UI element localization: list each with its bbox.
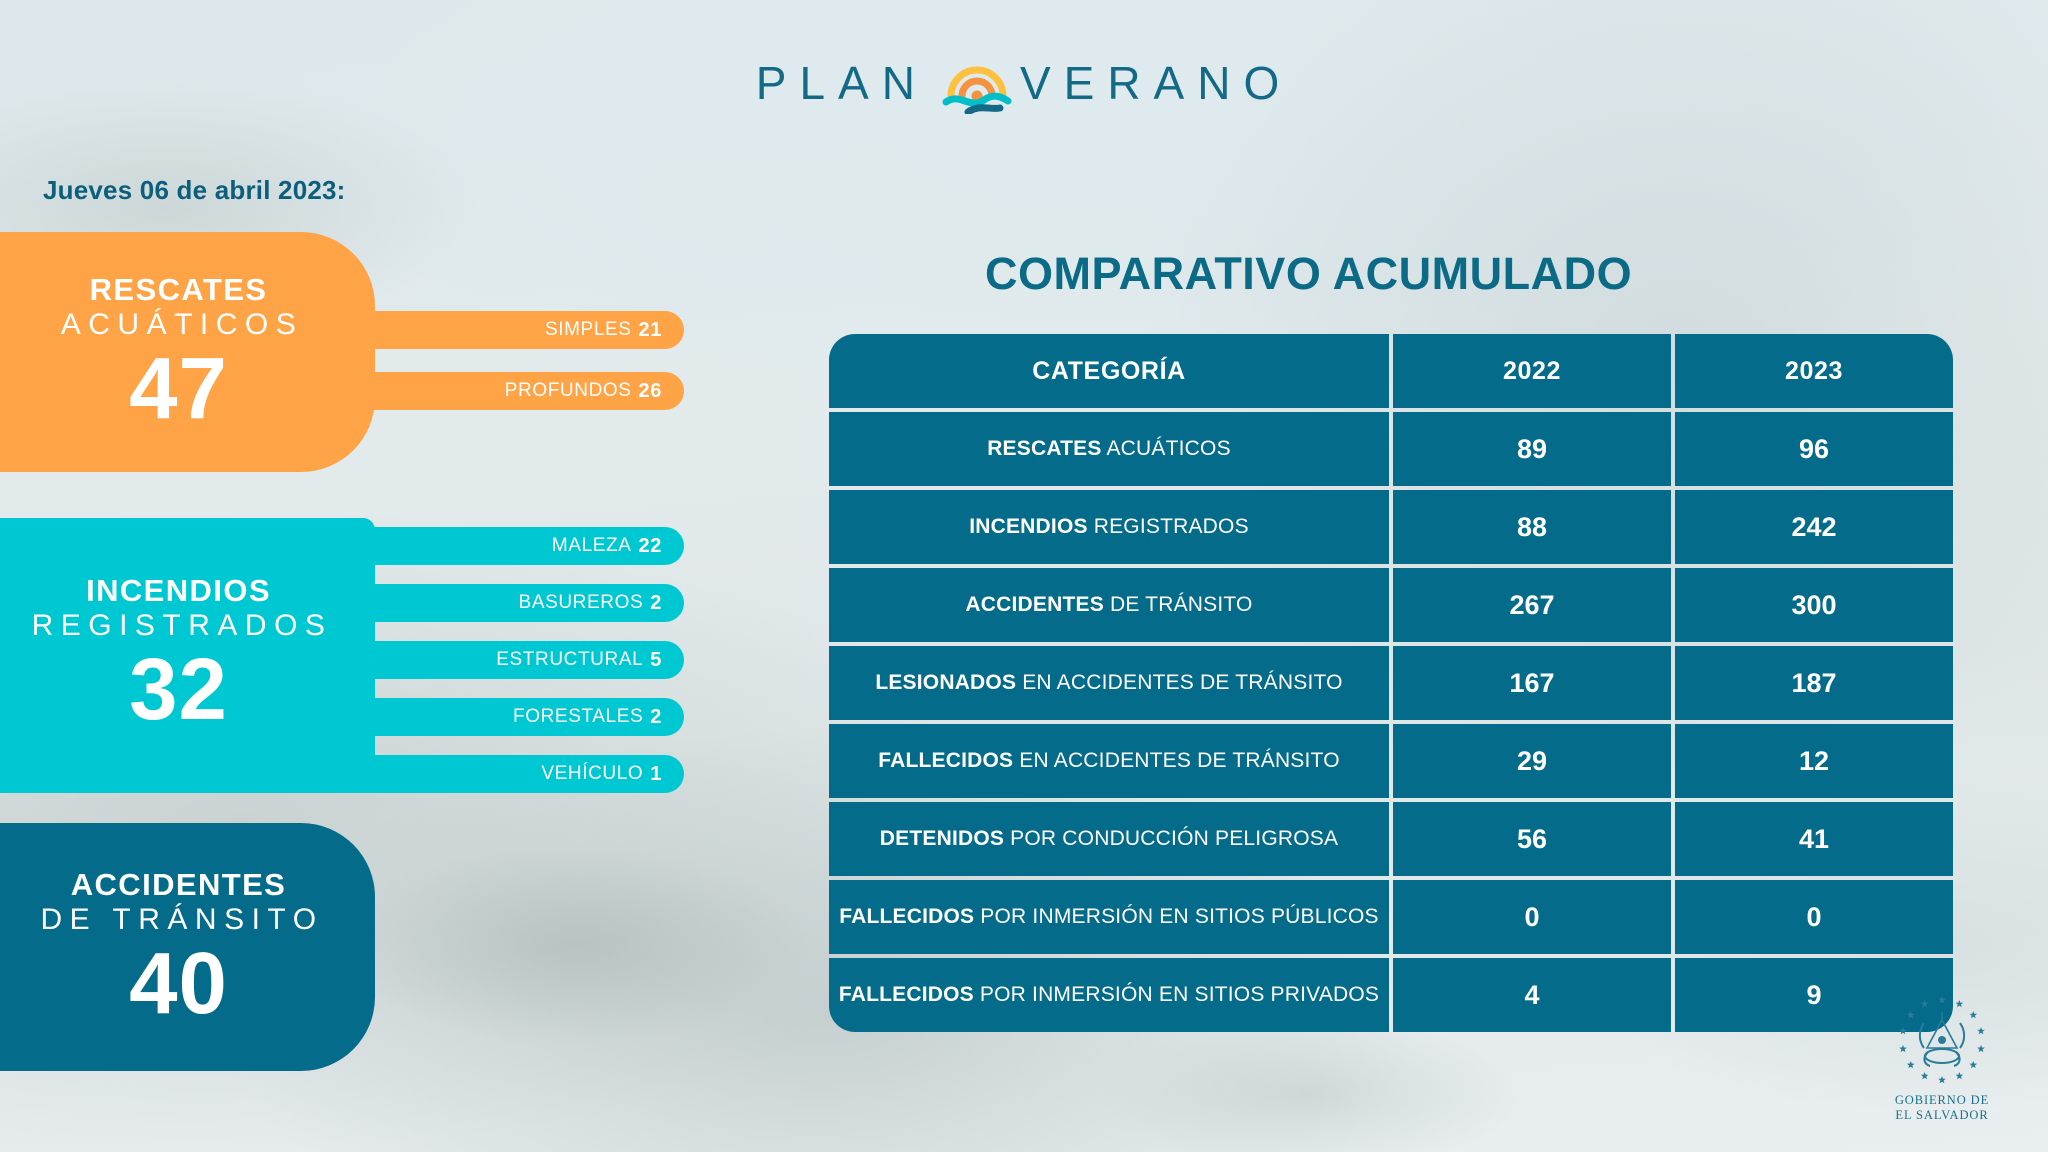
table-row: INCENDIOS REGISTRADOS88242 <box>829 490 1953 564</box>
comparison-table: CATEGORÍA 2022 2023 RESCATES ACUÁTICOS89… <box>825 330 1957 1036</box>
table-row: FALLECIDOS POR INMERSIÓN EN SITIOS PRIVA… <box>829 958 1953 1032</box>
pill-label: FORESTALES <box>513 706 643 728</box>
cell-categoria: RESCATES ACUÁTICOS <box>829 412 1389 486</box>
table-header-row: CATEGORÍA 2022 2023 <box>829 334 1953 408</box>
cell-2022: 167 <box>1393 646 1671 720</box>
stat-value: 40 <box>129 941 228 1026</box>
pill-value: 5 <box>650 649 662 672</box>
stat-subtitle: REGISTRADOS <box>25 607 333 645</box>
pill-label: PROFUNDOS <box>505 380 632 402</box>
table-body: RESCATES ACUÁTICOS8996INCENDIOS REGISTRA… <box>829 412 1953 1032</box>
cell-2023: 242 <box>1675 490 1953 564</box>
government-seal: GOBIERNO DE EL SALVADOR <box>1874 990 2010 1124</box>
stat-card-accidentes: ACCIDENTES DE TRÁNSITO 40 <box>0 823 375 1071</box>
table-row: FALLECIDOS EN ACCIDENTES DE TRÁNSITO2912 <box>829 724 1953 798</box>
pill-label: ESTRUCTURAL <box>496 649 643 671</box>
cell-2022: 267 <box>1393 568 1671 642</box>
date-label: Jueves 06 de abril 2023: <box>43 175 346 206</box>
table-row: FALLECIDOS POR INMERSIÓN EN SITIOS PÚBLI… <box>829 880 1953 954</box>
column-header-categoria: CATEGORÍA <box>829 334 1389 408</box>
cell-2022: 56 <box>1393 802 1671 876</box>
seal-line-1: GOBIERNO DE <box>1874 1093 2010 1109</box>
cell-2022: 4 <box>1393 958 1671 1032</box>
stat-title: ACCIDENTES <box>71 868 287 901</box>
cell-2023: 96 <box>1675 412 1953 486</box>
pill-value: 1 <box>650 763 662 786</box>
cell-2022: 88 <box>1393 490 1671 564</box>
cell-2022: 89 <box>1393 412 1671 486</box>
table-row: LESIONADOS EN ACCIDENTES DE TRÁNSITO1671… <box>829 646 1953 720</box>
cell-2023: 0 <box>1675 880 1953 954</box>
stat-title: INCENDIOS <box>86 574 271 607</box>
page-title: COMPARATIVO ACUMULADO <box>985 248 1632 300</box>
stat-title: RESCATES <box>90 273 268 306</box>
stat-subtitle: DE TRÁNSITO <box>33 901 323 939</box>
stat-card-rescates: RESCATES ACUÁTICOS 47 <box>0 232 375 472</box>
pill-value: 2 <box>650 592 662 615</box>
cell-categoria: FALLECIDOS POR INMERSIÓN EN SITIOS PÚBLI… <box>829 880 1389 954</box>
cell-categoria: FALLECIDOS POR INMERSIÓN EN SITIOS PRIVA… <box>829 958 1389 1032</box>
pill-label: MALEZA <box>552 535 632 557</box>
logo-word-verano: VERANO <box>1020 60 1292 106</box>
pill-value: 21 <box>639 319 662 342</box>
cell-2023: 300 <box>1675 568 1953 642</box>
plan-verano-logo: PLAN VERANO <box>0 52 2048 114</box>
column-header-2022: 2022 <box>1393 334 1671 408</box>
cell-2023: 12 <box>1675 724 1953 798</box>
cell-categoria: ACCIDENTES DE TRÁNSITO <box>829 568 1389 642</box>
cell-2023: 187 <box>1675 646 1953 720</box>
stat-value: 47 <box>129 346 228 431</box>
pill-value: 22 <box>639 535 662 558</box>
logo-word-plan: PLAN <box>756 60 928 106</box>
stat-subtitle: ACUÁTICOS <box>54 306 304 344</box>
cell-categoria: INCENDIOS REGISTRADOS <box>829 490 1389 564</box>
cell-categoria: DETENIDOS POR CONDUCCIÓN PELIGROSA <box>829 802 1389 876</box>
el-salvador-coat-of-arms-icon <box>1888 1075 1996 1092</box>
table-row: DETENIDOS POR CONDUCCIÓN PELIGROSA5641 <box>829 802 1953 876</box>
seal-line-2: EL SALVADOR <box>1874 1108 2010 1124</box>
pill-label: VEHÍCULO <box>541 763 643 785</box>
pill-value: 2 <box>650 706 662 729</box>
table-row: ACCIDENTES DE TRÁNSITO267300 <box>829 568 1953 642</box>
stat-value: 32 <box>129 647 228 732</box>
column-header-2023: 2023 <box>1675 334 1953 408</box>
cell-2022: 0 <box>1393 880 1671 954</box>
stat-card-incendios: INCENDIOS REGISTRADOS 32 <box>0 518 375 788</box>
cell-2022: 29 <box>1393 724 1671 798</box>
cell-categoria: FALLECIDOS EN ACCIDENTES DE TRÁNSITO <box>829 724 1389 798</box>
table-row: RESCATES ACUÁTICOS8996 <box>829 412 1953 486</box>
pill-label: BASUREROS <box>519 592 644 614</box>
cell-categoria: LESIONADOS EN ACCIDENTES DE TRÁNSITO <box>829 646 1389 720</box>
pill-label: SIMPLES <box>545 319 632 341</box>
pill-value: 26 <box>639 380 662 403</box>
sun-wave-icon <box>938 52 1016 114</box>
cell-2023: 41 <box>1675 802 1953 876</box>
